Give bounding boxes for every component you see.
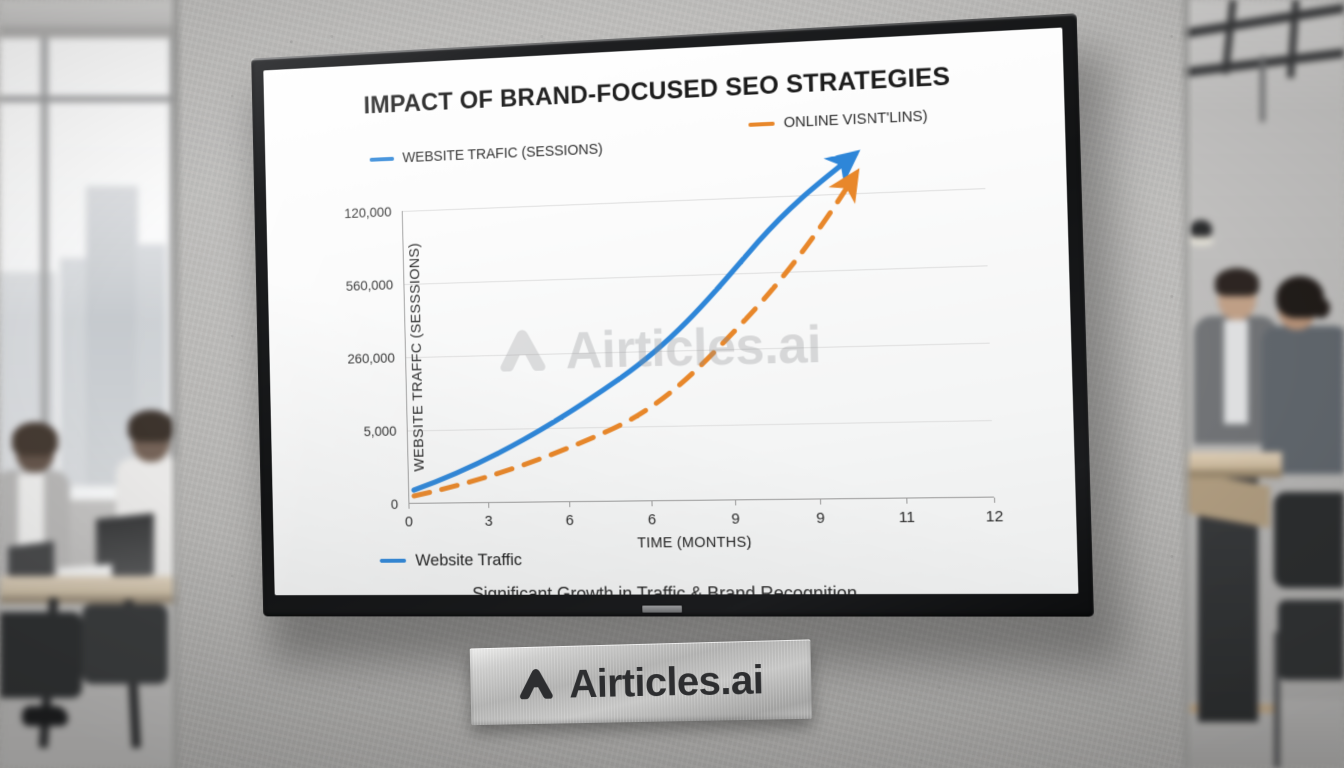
x-tick-1: 3 xyxy=(484,513,492,530)
x-tick-4: 9 xyxy=(731,510,740,527)
legend-swatch-blue-bottom xyxy=(380,559,406,563)
display-screen: Airticles.ai IMPACT OF BRAND-FOCUSED SEO… xyxy=(263,28,1078,596)
legend-swatch-blue xyxy=(370,157,394,162)
y-tick-3: 560,000 xyxy=(346,277,394,294)
y-tick-1: 5,000 xyxy=(363,423,396,439)
series-line-online-visibility xyxy=(407,185,856,496)
legend-label-website-traffic: WEBSITE TRAFIC (SESSIONS) xyxy=(402,142,603,167)
chart-title: IMPACT OF BRAND-FOCUSED SEO STRATEGIES xyxy=(264,56,1064,125)
x-tick-5: 9 xyxy=(816,510,825,527)
legend-item-online-visibility: ONLINE VISNT'LINS) xyxy=(748,108,928,132)
display-bezel: Airticles.ai IMPACT OF BRAND-FOCUSED SEO… xyxy=(251,13,1094,616)
legend-item-website-traffic: WEBSITE TRAFIC (SESSIONS) xyxy=(370,142,603,168)
office-scene: Airticles.ai IMPACT OF BRAND-FOCUSED SEO… xyxy=(0,0,1344,768)
plaque-logo-icon xyxy=(515,664,557,706)
x-tick-7: 12 xyxy=(986,508,1004,526)
x-tick-0: 0 xyxy=(405,514,413,531)
chart: IMPACT OF BRAND-FOCUSED SEO STRATEGIES W… xyxy=(263,28,1078,596)
legend-label-online-visibility: ONLINE VISNT'LINS) xyxy=(783,108,927,131)
chart-legend-top: WEBSITE TRAFIC (SESSIONS) ONLINE VISNT'L… xyxy=(265,116,1065,177)
plot-area: 0 5,000 260,000 560,000 120,000 xyxy=(402,188,994,504)
series-line-website-traffic xyxy=(407,163,853,490)
chart-legend-bottom: Website Traffic xyxy=(379,550,522,570)
wall-mounted-display: Airticles.ai IMPACT OF BRAND-FOCUSED SEO… xyxy=(236,36,1074,616)
x-tick-3: 6 xyxy=(648,511,657,528)
y-tick-2: 260,000 xyxy=(347,350,395,367)
x-tick-6: 11 xyxy=(899,509,916,527)
chart-series-svg xyxy=(402,188,994,504)
legend-swatch-orange xyxy=(748,122,774,127)
legend-label-website-traffic-short: Website Traffic xyxy=(415,550,522,570)
y-tick-4: 120,000 xyxy=(344,204,392,221)
chart-subtitle: Significant Growth in Traffic & Brand Re… xyxy=(274,582,1078,595)
y-tick-0: 0 xyxy=(391,496,399,512)
plaque-text: Airticles.ai xyxy=(569,657,764,707)
wall-plaque: Airticles.ai xyxy=(466,644,810,722)
brand-plate xyxy=(642,606,682,613)
x-tick-2: 6 xyxy=(565,512,574,529)
